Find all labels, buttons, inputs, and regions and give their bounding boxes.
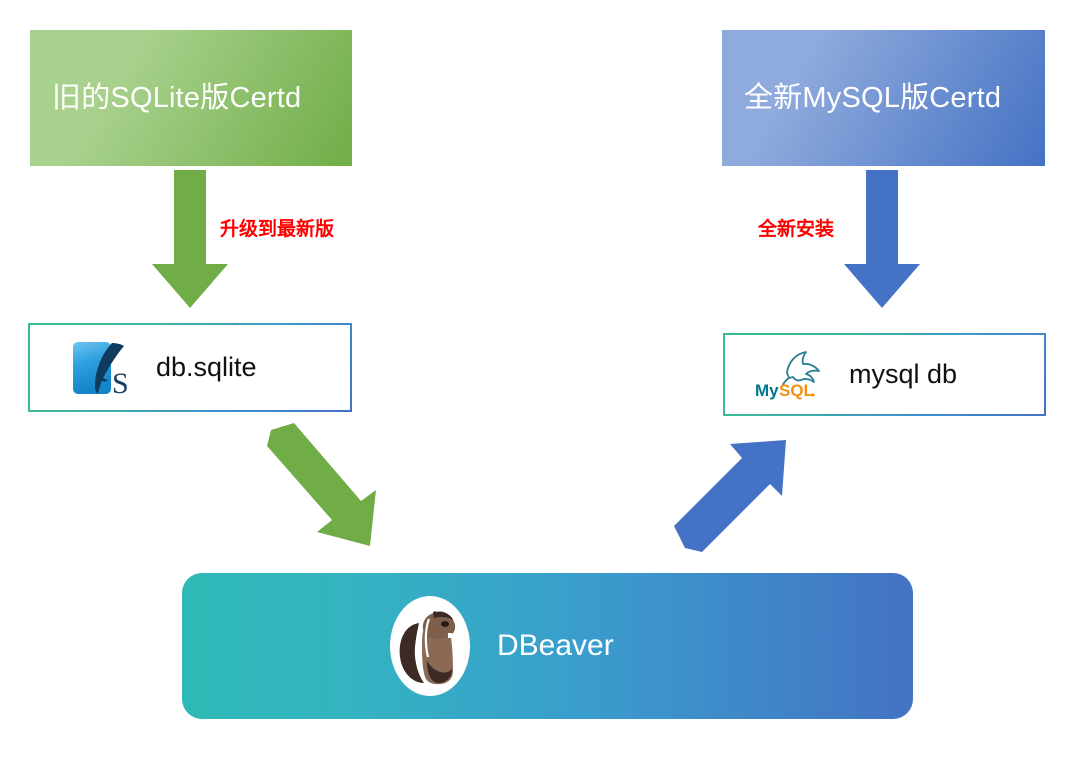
node-db-sqlite-label: db.sqlite bbox=[156, 352, 257, 383]
svg-text:S: S bbox=[112, 367, 129, 400]
dbeaver-beaver-icon bbox=[389, 595, 471, 697]
arrow-fresh-install-down bbox=[840, 168, 924, 310]
node-old-certd-label: 旧的SQLite版Certd bbox=[30, 81, 301, 116]
node-new-certd[interactable]: 全新MySQL版Certd bbox=[722, 30, 1045, 166]
node-old-certd[interactable]: 旧的SQLite版Certd bbox=[30, 30, 352, 166]
node-dbeaver-label: DBeaver bbox=[497, 629, 614, 663]
node-mysql-db[interactable]: My SQL mysql db bbox=[723, 333, 1046, 416]
node-db-sqlite[interactable]: S db.sqlite bbox=[28, 323, 352, 412]
node-mysql-db-label: mysql db bbox=[849, 359, 957, 390]
mysql-wordmark-my: My bbox=[755, 381, 779, 400]
arrow-sqlite-to-dbeaver bbox=[252, 418, 378, 548]
edge-label-fresh-install: 全新安装 bbox=[758, 214, 834, 241]
mysql-wordmark-sql: SQL bbox=[779, 381, 814, 400]
sqlite-logo-icon: S bbox=[68, 335, 134, 401]
mysql-logo-icon: My SQL bbox=[753, 349, 831, 401]
arrow-dbeaver-to-mysql bbox=[672, 428, 798, 558]
node-new-certd-label: 全新MySQL版Certd bbox=[722, 81, 1001, 116]
edge-label-upgrade: 升级到最新版 bbox=[220, 214, 334, 241]
node-dbeaver[interactable]: DBeaver bbox=[182, 573, 913, 719]
diagram-canvas: 旧的SQLite版Certd 全新MySQL版Certd 升级到最新版 全新安装 bbox=[0, 0, 1074, 765]
